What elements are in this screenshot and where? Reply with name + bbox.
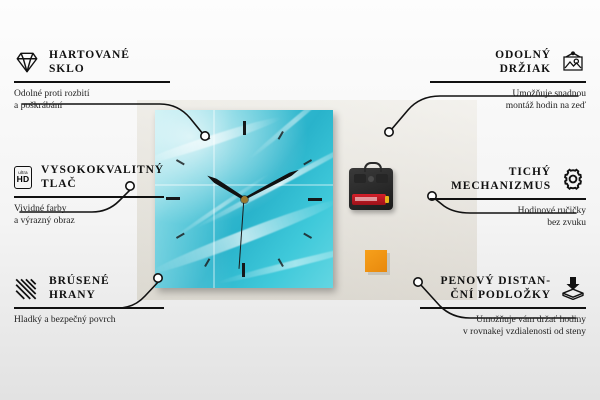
gear-icon: [560, 167, 586, 191]
feature-header: ODOLNÝ DRŽIAK: [430, 48, 586, 76]
feature-description: bez zvuku: [430, 217, 586, 230]
divider: [420, 307, 586, 309]
feature-description: Odolné proti rozbití: [14, 88, 170, 101]
clock-tick: [244, 198, 322, 200]
feature-description: a výrazný obraz: [14, 215, 164, 228]
hatched-edge-icon: [14, 276, 40, 300]
picture-hanger-icon: [560, 50, 586, 74]
feature-foam-spacers: PENOVÝ DISTAN- ČNÍ PODLOŽKY Umožňuje vám…: [420, 274, 586, 339]
feature-title: TICHÝ MECHANIZMUS: [451, 165, 551, 193]
feature-description: a poškrábání: [14, 100, 170, 113]
divider: [14, 81, 170, 83]
mechanism-slot: [376, 174, 388, 183]
diamond-icon: [14, 50, 40, 74]
mechanism-slot: [354, 174, 366, 183]
hanger-lug-icon: [364, 162, 382, 172]
feature-description: Vividné farby: [14, 203, 164, 216]
wall-clock: [155, 110, 333, 288]
feature-high-quality-print: ultra HD VYSOKOKVALITNÝ TLAČ Vividné far…: [14, 163, 164, 228]
feature-header: ultra HD VYSOKOKVALITNÝ TLAČ: [14, 163, 164, 191]
clock-tick: [166, 198, 244, 200]
foam-spacer-pad: [365, 250, 387, 272]
feature-silent-mechanism: TICHÝ MECHANIZMUS Hodinové ručičky bez z…: [430, 165, 586, 230]
feature-title: PENOVÝ DISTAN- ČNÍ PODLOŽKY: [441, 274, 551, 302]
feature-title: VYSOKOKVALITNÝ TLAČ: [41, 163, 164, 191]
feature-description: Umožňuje vám držať hodiny: [420, 314, 586, 327]
feature-header: TICHÝ MECHANIZMUS: [430, 165, 586, 193]
battery-stripe: [355, 197, 377, 201]
feature-durable-hanger: ODOLNÝ DRŽIAK Umožňuje snadnou montáž ho…: [430, 48, 586, 113]
feature-description: montáž hodin na zeď: [430, 100, 586, 113]
feature-ground-edges: BRÚSENÉ HRANY Hladký a bezpečný povrch: [14, 274, 164, 326]
feature-tempered-glass: HARTOVANÉ SKLO Odolné proti rozbití a po…: [14, 48, 170, 113]
clock-tick: [243, 121, 245, 199]
divider: [14, 196, 164, 198]
feature-title: ODOLNÝ DRŽIAK: [495, 48, 551, 76]
feature-header: BRÚSENÉ HRANY: [14, 274, 164, 302]
battery: [352, 194, 386, 205]
spacer-pad-icon: [560, 276, 586, 300]
divider: [430, 81, 586, 83]
clock-mechanism: [349, 168, 393, 210]
divider: [430, 198, 586, 200]
feature-header: HARTOVANÉ SKLO: [14, 48, 170, 76]
clock-center-cap: [241, 196, 248, 203]
feature-title: HARTOVANÉ SKLO: [49, 48, 130, 76]
feature-description: v rovnakej vzdialenosti od steny: [420, 326, 586, 339]
feature-header: PENOVÝ DISTAN- ČNÍ PODLOŽKY: [420, 274, 586, 302]
feature-description: Umožňuje snadnou: [430, 88, 586, 101]
feature-description: Hodinové ručičky: [430, 205, 586, 218]
ultra-hd-icon: ultra HD: [14, 166, 32, 189]
battery-tip: [385, 196, 389, 203]
feature-description: Hladký a bezpečný povrch: [14, 314, 164, 327]
infographic-page: HARTOVANÉ SKLO Odolné proti rozbití a po…: [0, 0, 600, 400]
artwork-streak: [247, 110, 333, 161]
product-photo: [137, 100, 477, 300]
divider: [14, 307, 164, 309]
feature-title: BRÚSENÉ HRANY: [49, 274, 110, 302]
mechanism-bolt: [368, 176, 374, 182]
